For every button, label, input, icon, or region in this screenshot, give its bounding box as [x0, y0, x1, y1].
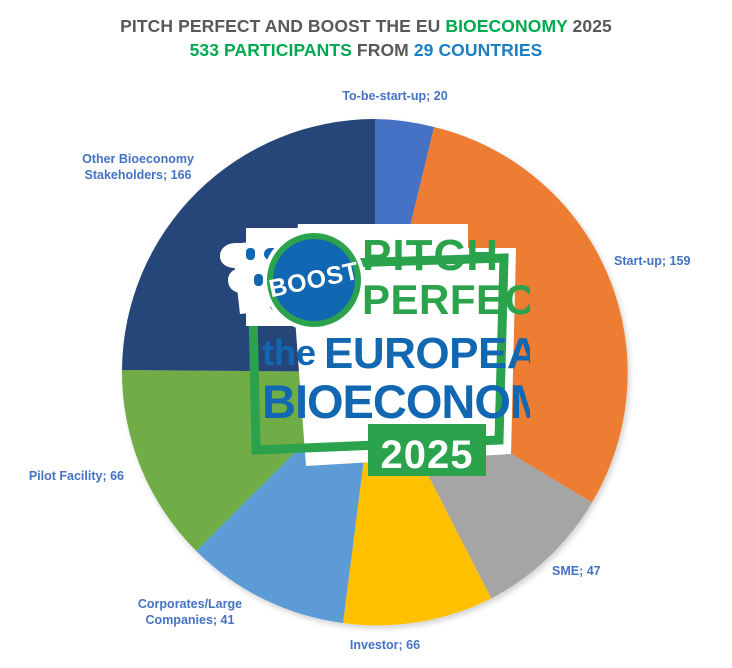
data-label-to-be-start-up: To-be-start-up; 20 — [300, 88, 490, 104]
data-label-pilot-facility: Pilot Facility; 66 — [0, 468, 124, 484]
pitch-perfect-logo: BOOST PITCH PERFECT the EUROPEAN BIOECON… — [206, 218, 530, 480]
logo-word-the: the — [262, 332, 316, 373]
logo-year-tab: 2025 — [368, 424, 486, 477]
logo-svg: BOOST PITCH PERFECT the EUROPEAN BIOECON… — [206, 218, 530, 480]
data-label-corporates-line-2: Companies; 41 — [105, 612, 275, 628]
data-label-sme: SME; 47 — [552, 563, 601, 579]
logo-word-perfect: PERFECT — [362, 276, 530, 323]
data-label-start-up: Start-up; 159 — [614, 253, 690, 269]
logo-year-text: 2025 — [381, 433, 474, 477]
logo-word-pitch: PITCH — [362, 231, 499, 280]
data-label-corporates: Corporates/Large Companies; 41 — [105, 596, 275, 628]
data-label-other-line-1: Other Bioeconomy — [48, 151, 228, 167]
logo-boost-badge: BOOST — [263, 229, 365, 331]
logo-word-european: EUROPEAN — [324, 329, 530, 378]
data-label-other-line-2: Stakeholders; 166 — [48, 167, 228, 183]
data-label-corporates-line-1: Corporates/Large — [105, 596, 275, 612]
logo-word-bioeconomy: BIOECONOMY — [262, 375, 530, 428]
data-label-investor: Investor; 66 — [305, 637, 465, 653]
data-label-other-stakeholders: Other Bioeconomy Stakeholders; 166 — [48, 151, 228, 183]
